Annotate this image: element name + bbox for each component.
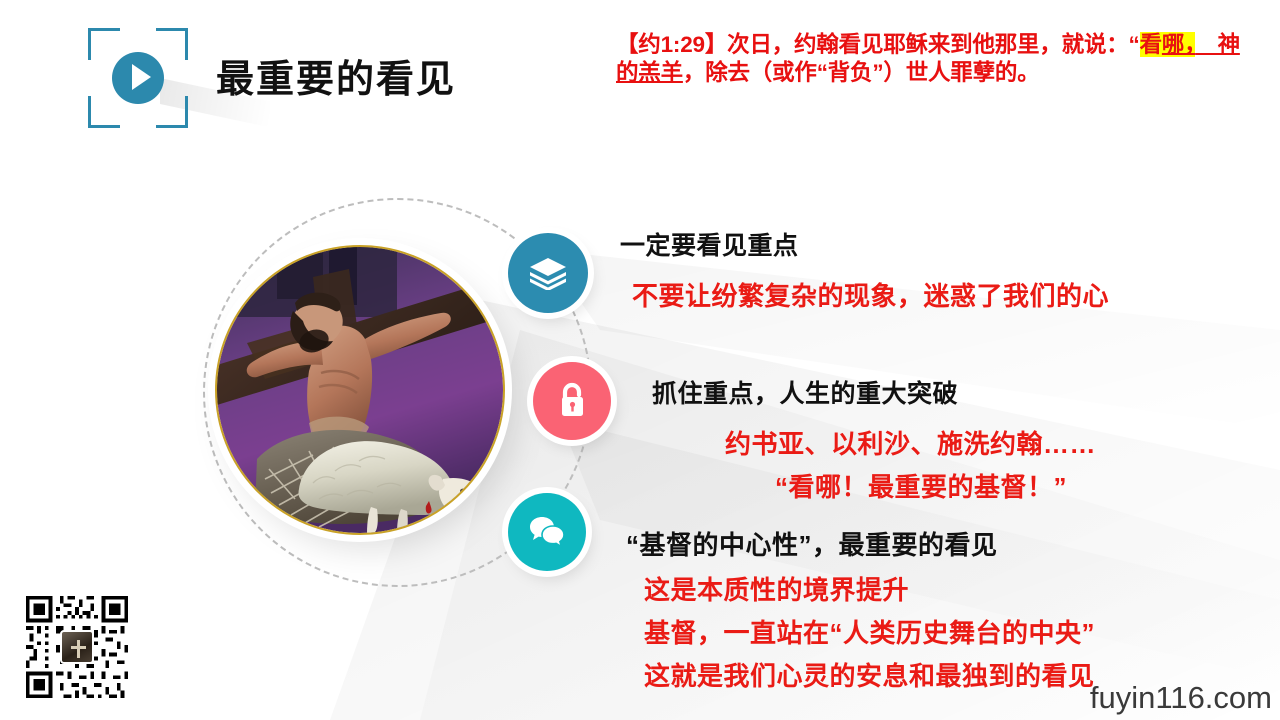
chat-bubbles-icon (529, 515, 565, 549)
block-2-heading: 抓住重点，人生的重大突破 (652, 374, 1096, 410)
bubble-unlock[interactable] (533, 362, 611, 440)
block-3-heading: “基督的中心性”，最重要的看见 (626, 525, 1095, 562)
scripture-ref: 【约1:29】 (616, 32, 727, 57)
page-title: 最重要的看见 (216, 48, 456, 103)
block-2-line-2: “看哪！最重要的基督！” (775, 467, 1096, 504)
logo-frame-left-top (88, 28, 91, 60)
block-1-line-1: 不要让纷繁复杂的现象，迷惑了我们的心 (632, 276, 1109, 313)
block-3-line-2: 基督，一直站在“人类历史舞台的中央” (644, 613, 1095, 650)
block-3-line-1: 这是本质性的境界提升 (644, 570, 1095, 607)
scripture-text: 【约1:29】次日，约翰看见耶稣来到他那里，就说：“看哪， 神的羔羊，除去（或作… (616, 31, 1248, 88)
block-3-line-3: 这就是我们心灵的安息和最独到的看见 (644, 656, 1095, 693)
block-2-line-1: 约书亚、以利沙、施洗约翰…… (725, 424, 1096, 461)
brand-logo (88, 28, 188, 128)
bubble-chat[interactable] (508, 493, 586, 571)
photo-artwork (217, 247, 503, 533)
crucifixion-with-lamb-photo (215, 245, 505, 535)
content-block-1: 一定要看见重点 不要让纷繁复杂的现象，迷惑了我们的心 (620, 226, 1109, 313)
logo-frame-top-left (88, 28, 120, 31)
qr-code (22, 592, 132, 702)
layers-icon (529, 256, 567, 290)
cross-icon-vertical (77, 640, 80, 658)
logo-frame-right-top (185, 28, 188, 60)
block-1-heading: 一定要看见重点 (620, 226, 1109, 262)
scripture-part1: 次日，约翰看见耶稣来到他那里，就说：“ (727, 32, 1139, 57)
play-triangle-icon (132, 64, 151, 90)
scripture-highlight-1: 看 (1140, 32, 1162, 57)
unlock-icon (556, 382, 588, 420)
logo-frame-bottom-left (88, 125, 120, 128)
qr-center-logo (60, 630, 94, 664)
cross-icon-horizontal (71, 646, 86, 649)
content-block-3: “基督的中心性”，最重要的看见 这是本质性的境界提升 基督，一直站在“人类历史舞… (626, 525, 1095, 693)
scripture-highlight-2: 哪， (1162, 32, 1195, 57)
logo-frame-top-right (156, 28, 188, 31)
bubble-layers[interactable] (508, 233, 588, 313)
slide-canvas: 最重要的看见 【约1:29】次日，约翰看见耶稣来到他那里，就说：“看哪， 神的羔… (0, 0, 1280, 720)
logo-frame-right-bottom (185, 96, 188, 128)
site-watermark: fuyin116.com (1090, 680, 1272, 716)
scripture-part2: ，除去（或作“背负”）世人罪孽的。 (683, 60, 1040, 85)
photo-clip (217, 247, 503, 533)
content-block-2: 抓住重点，人生的重大突破 约书亚、以利沙、施洗约翰…… “看哪！最重要的基督！” (620, 374, 1096, 504)
logo-frame-bottom-right (156, 125, 188, 128)
logo-frame-left-bottom (88, 96, 91, 128)
